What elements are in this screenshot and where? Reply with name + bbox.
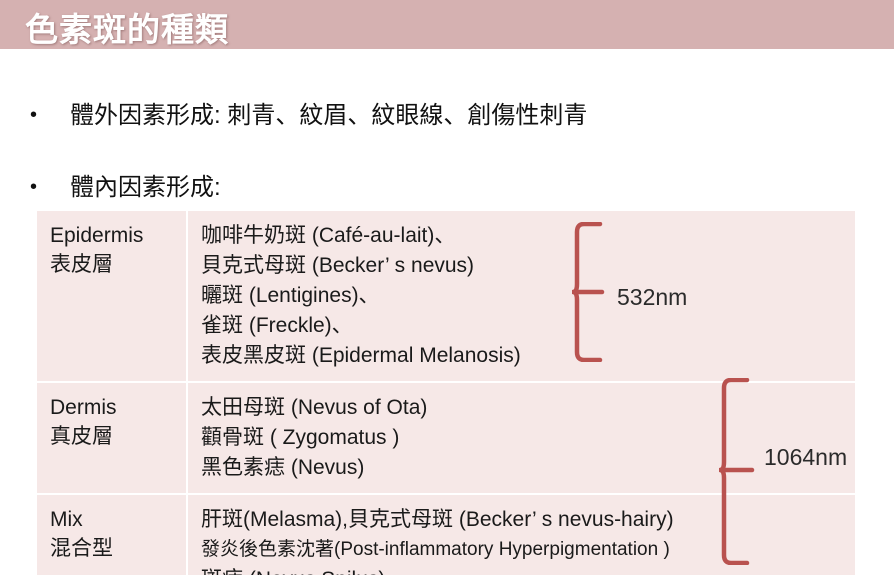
condition-line: 咖啡牛奶斑 (Café-au-lait)、: [201, 221, 855, 251]
condition-line: 太田母斑 (Nevus of Ota): [201, 393, 855, 423]
bullet-dot-icon: •: [30, 172, 46, 202]
condition-line: 肝斑(Melasma),貝克式母斑 (Becker’ s nevus-hairy…: [201, 505, 855, 535]
layer-name-zh: 混合型: [50, 534, 186, 563]
condition-line: 曬斑 (Lentigines)、: [201, 281, 855, 311]
slide-title-bar: 色素斑的種類: [0, 0, 894, 49]
table-row: Dermis 真皮層 太田母斑 (Nevus of Ota) 顴骨斑 ( Zyg…: [37, 383, 855, 495]
condition-line: 雀斑 (Freckle)、: [201, 311, 855, 341]
table-cell-layer-label: Mix 混合型: [37, 495, 188, 575]
bullet-label: 體外因素形成: 刺青、紋眉、紋眼線、創傷性刺青: [70, 100, 587, 132]
bullet-label: 體內因素形成:: [70, 172, 221, 204]
condition-line: 黑色素痣 (Nevus): [201, 453, 855, 483]
bullet-item-internal-factors: • 體內因素形成:: [30, 172, 221, 204]
table-cell-conditions: 太田母斑 (Nevus of Ota) 顴骨斑 ( Zygomatus ) 黑色…: [188, 383, 855, 493]
condition-line: 斑痣 (Nevus Spilus): [201, 565, 855, 575]
condition-line: 表皮黑皮斑 (Epidermal Melanosis): [201, 341, 855, 371]
wavelength-label-532: 532nm: [617, 283, 687, 311]
pigmentation-types-table: Epidermis 表皮層 咖啡牛奶斑 (Café-au-lait)、 貝克式母…: [37, 211, 855, 575]
table-row: Epidermis 表皮層 咖啡牛奶斑 (Café-au-lait)、 貝克式母…: [37, 211, 855, 383]
condition-line: 顴骨斑 ( Zygomatus ): [201, 423, 855, 453]
condition-line: 發炎後色素沈著(Post-inflammatory Hyperpigmentat…: [201, 535, 855, 565]
table-row: Mix 混合型 肝斑(Melasma),貝克式母斑 (Becker’ s nev…: [37, 495, 855, 575]
condition-line: 貝克式母斑 (Becker’ s nevus): [201, 251, 855, 281]
layer-name-en: Mix: [50, 505, 186, 534]
layer-name-zh: 表皮層: [50, 250, 186, 279]
table-cell-layer-label: Epidermis 表皮層: [37, 211, 188, 381]
layer-name-en: Epidermis: [50, 221, 186, 250]
layer-name-en: Dermis: [50, 393, 186, 422]
table-cell-layer-label: Dermis 真皮層: [37, 383, 188, 493]
table-cell-conditions: 肝斑(Melasma),貝克式母斑 (Becker’ s nevus-hairy…: [188, 495, 855, 575]
bullet-dot-icon: •: [30, 100, 46, 130]
bullet-item-external-factors: • 體外因素形成: 刺青、紋眉、紋眼線、創傷性刺青: [30, 100, 587, 132]
page-title: 色素斑的種類: [25, 3, 229, 51]
table-cell-conditions: 咖啡牛奶斑 (Café-au-lait)、 貝克式母斑 (Becker’ s n…: [188, 211, 855, 381]
layer-name-zh: 真皮層: [50, 422, 186, 451]
wavelength-label-1064: 1064nm: [764, 443, 847, 471]
